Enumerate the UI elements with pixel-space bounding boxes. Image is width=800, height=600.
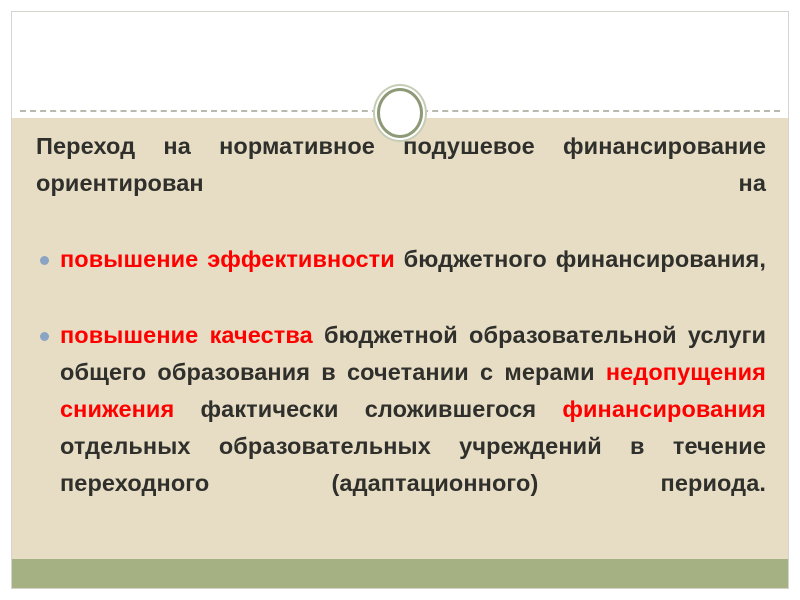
body-text: фактически сложившегося <box>174 396 562 422</box>
ring-circle-decoration-icon <box>377 88 423 138</box>
bullet-dot-icon <box>40 332 49 341</box>
lead-paragraph: Переход на нормативное подушевое финанси… <box>34 128 766 239</box>
list-item: повышение качества бюджетной образовател… <box>34 317 766 539</box>
highlighted-text: повышение эффективности <box>60 246 395 272</box>
highlighted-text: финансирования <box>562 396 766 422</box>
slide-text-content: Переход на нормативное подушевое финанси… <box>34 128 766 541</box>
body-text: Переход на нормативное подушевое финанси… <box>36 133 766 196</box>
body-text: отдельных образовательных учреждений в т… <box>60 433 766 496</box>
presentation-slide: Переход на нормативное подушевое финанси… <box>11 11 789 589</box>
bullet-dot-icon <box>40 256 49 265</box>
list-item: повышение эффективности бюджетного финан… <box>34 241 766 315</box>
highlighted-text: повышение качества <box>60 322 313 348</box>
footer-green-band <box>12 559 788 588</box>
body-text: бюджетного финансирования, <box>395 246 766 272</box>
slide-body-area: Переход на нормативное подушевое финанси… <box>12 118 788 559</box>
